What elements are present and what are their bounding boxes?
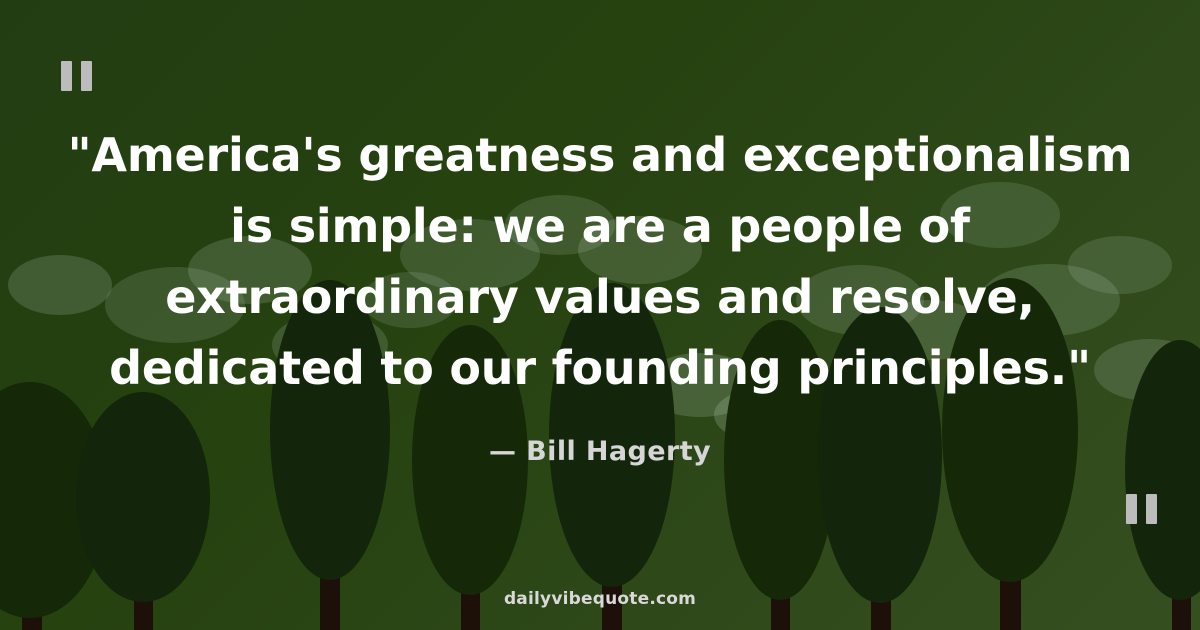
quote-card: "America's greatness and exceptionalism … bbox=[0, 0, 1200, 630]
site-watermark: dailyvibequote.com bbox=[0, 589, 1200, 609]
quote-text: "America's greatness and exceptionalism … bbox=[0, 120, 1200, 404]
quote-attribution: — Bill Hagerty bbox=[0, 436, 1200, 467]
card-content: "America's greatness and exceptionalism … bbox=[0, 0, 1200, 630]
